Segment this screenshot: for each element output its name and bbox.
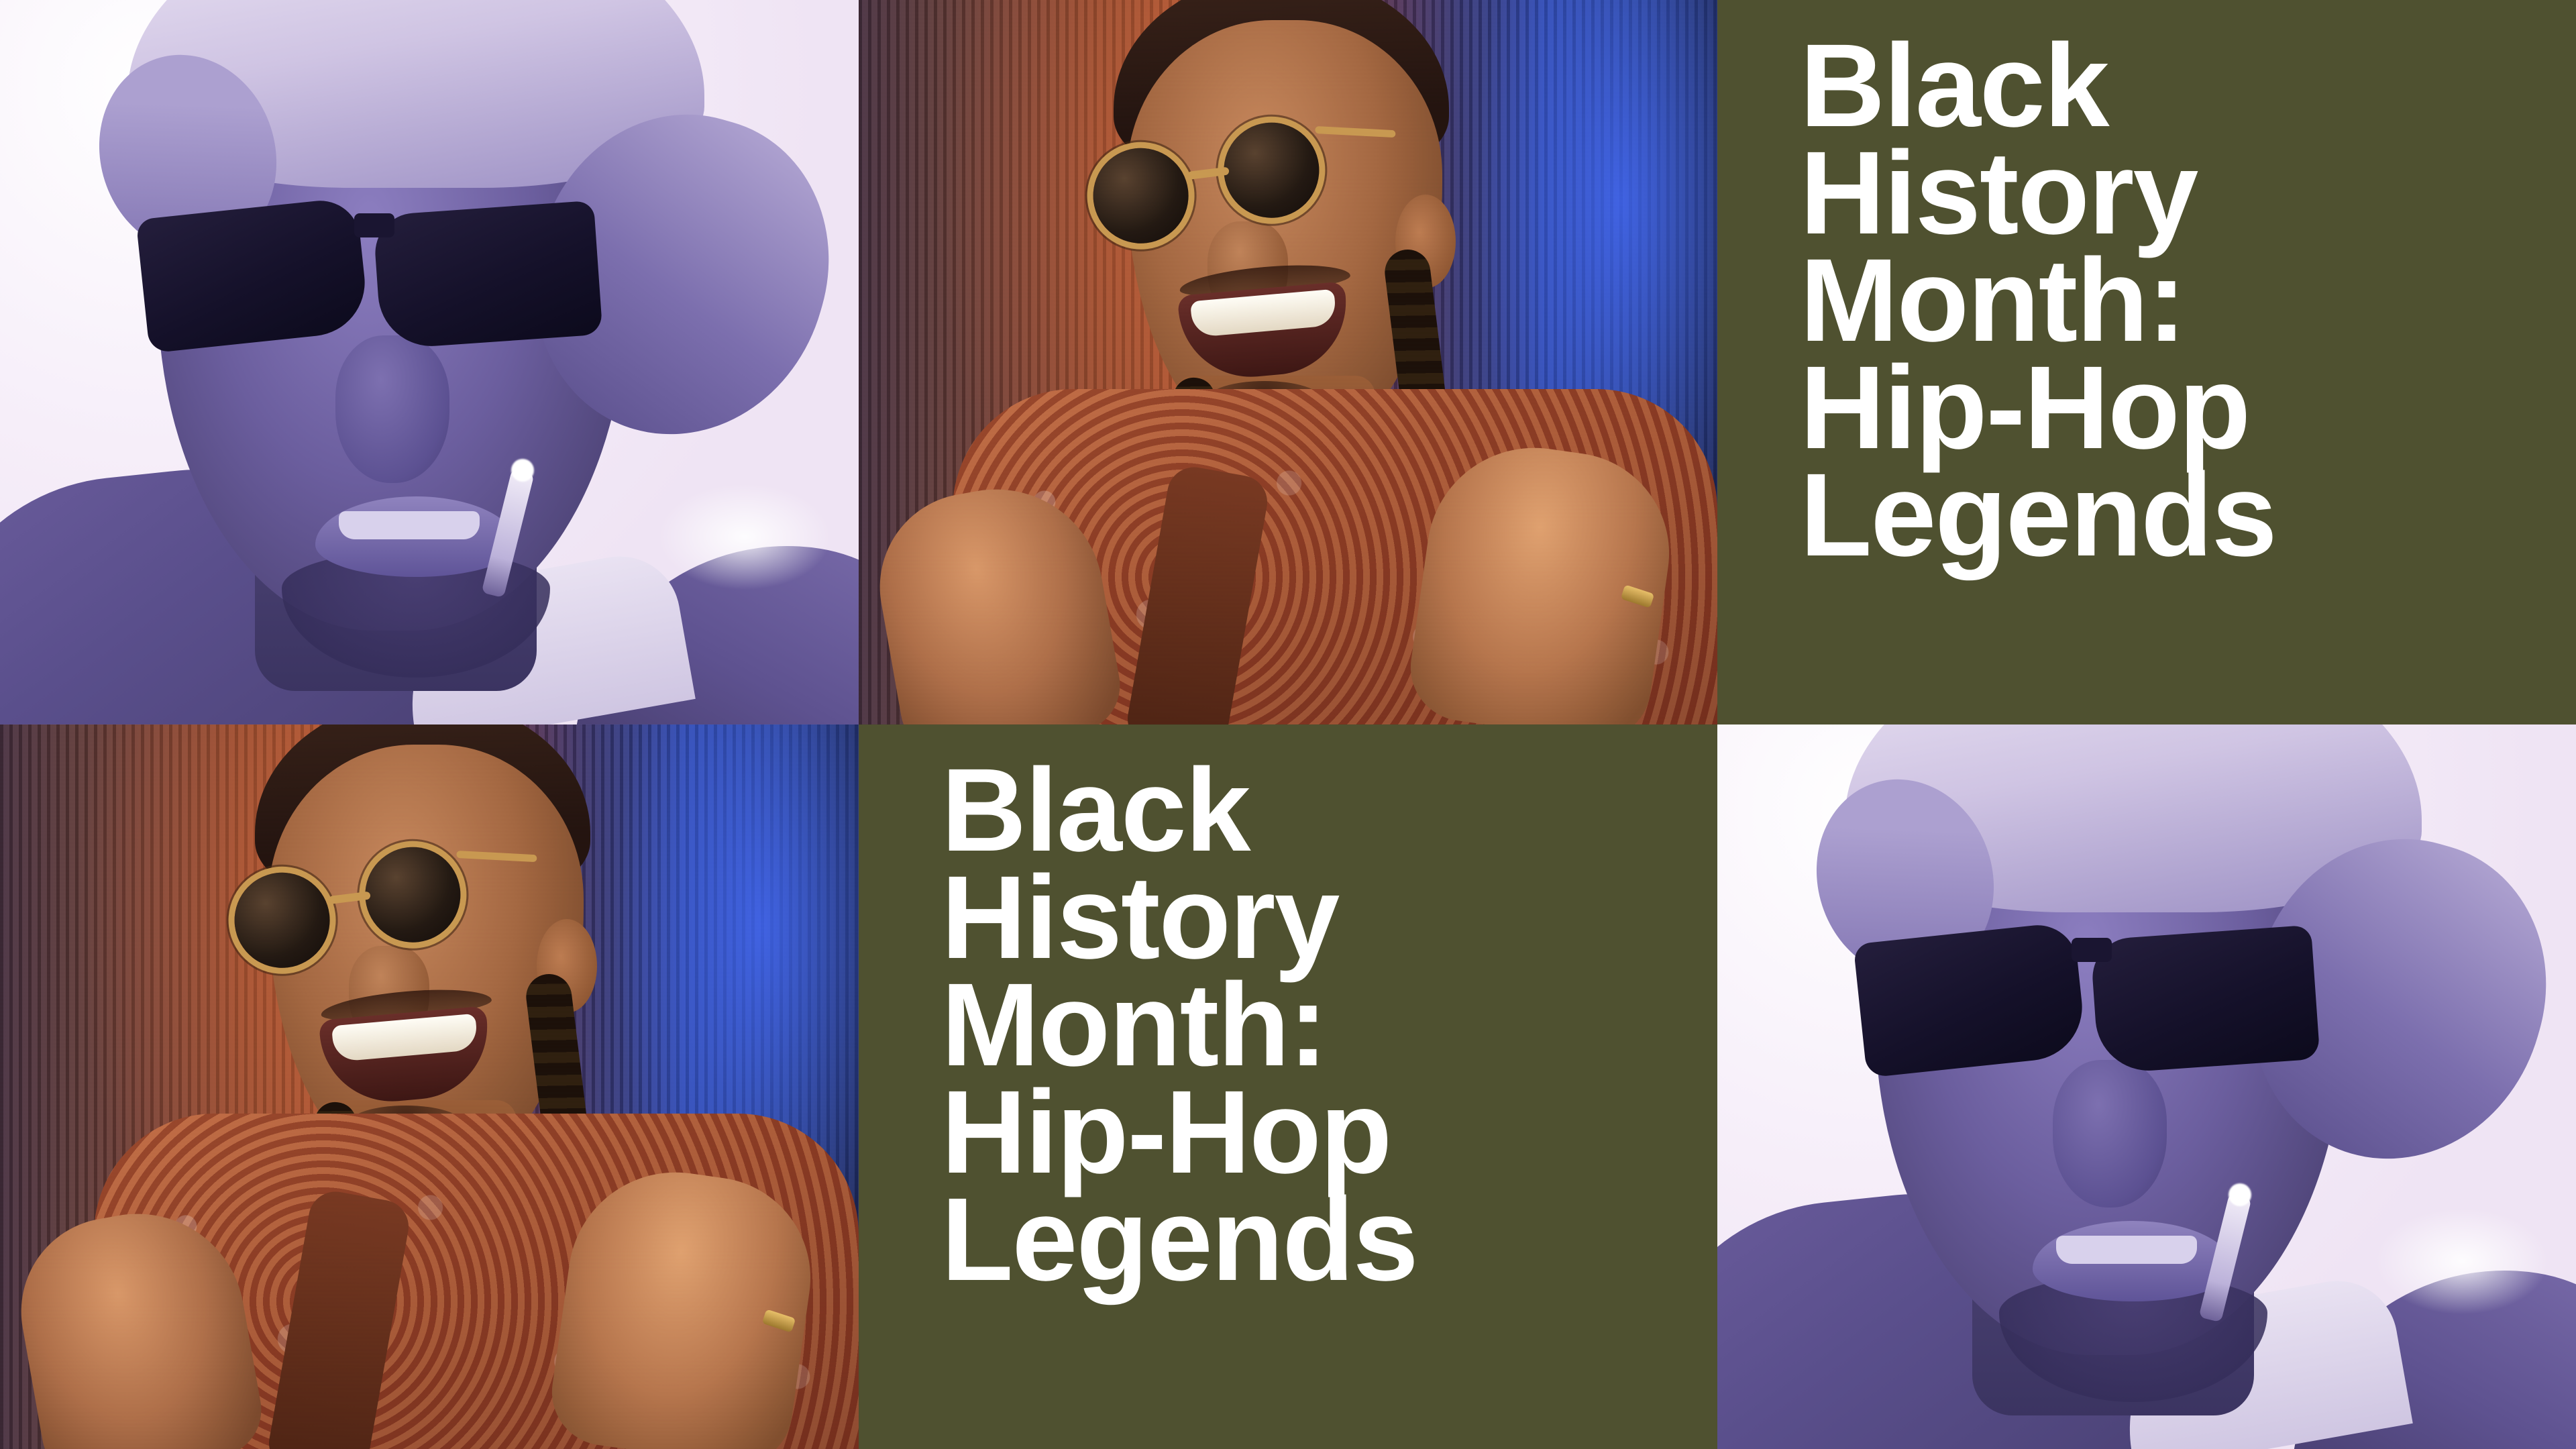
teeth bbox=[2056, 1236, 2197, 1264]
smoke-haze bbox=[2375, 1207, 2549, 1315]
sunglasses-lens-right bbox=[2090, 925, 2320, 1075]
photo-rapper-bucket-hat bbox=[1717, 724, 2576, 1449]
headline-card-top-right: Black History Month: Hip-Hop Legends bbox=[1717, 0, 2576, 724]
collage-grid: Black History Month: Hip-Hop Legends bbox=[0, 0, 2576, 1449]
photo-tile-paisley-top-middle bbox=[859, 0, 1717, 724]
nose bbox=[335, 335, 449, 483]
photo-rapper-paisley-shirt bbox=[0, 724, 859, 1449]
page-title: Black History Month: Hip-Hop Legends bbox=[1800, 32, 2430, 569]
cigarette-tip bbox=[2229, 1183, 2251, 1206]
photo-tile-bucket-hat-bottom-right bbox=[1717, 724, 2576, 1449]
photo-rapper-paisley-shirt bbox=[859, 0, 1717, 724]
cigarette-tip bbox=[511, 459, 534, 482]
photo-tile-bucket-hat-top-left bbox=[0, 0, 859, 724]
photo-tile-paisley-bottom-left bbox=[0, 724, 859, 1449]
page-title: Black History Month: Hip-Hop Legends bbox=[941, 757, 1572, 1293]
sunglasses bbox=[1860, 926, 2356, 1080]
nose bbox=[2053, 1060, 2167, 1207]
sunglasses-lens-left bbox=[1853, 921, 2087, 1077]
film-grain bbox=[0, 724, 859, 1449]
sunglasses-bridge bbox=[354, 213, 394, 237]
teeth bbox=[339, 511, 480, 539]
smoke-haze bbox=[657, 483, 832, 590]
headline-card-bottom-middle: Black History Month: Hip-Hop Legends bbox=[859, 724, 1717, 1449]
photo-rapper-bucket-hat bbox=[0, 0, 859, 724]
sunglasses-lens-left bbox=[136, 197, 370, 353]
sunglasses-lens-right bbox=[372, 201, 602, 350]
film-grain bbox=[859, 0, 1717, 724]
sunglasses-bridge bbox=[2072, 938, 2112, 962]
sunglasses bbox=[142, 201, 639, 356]
